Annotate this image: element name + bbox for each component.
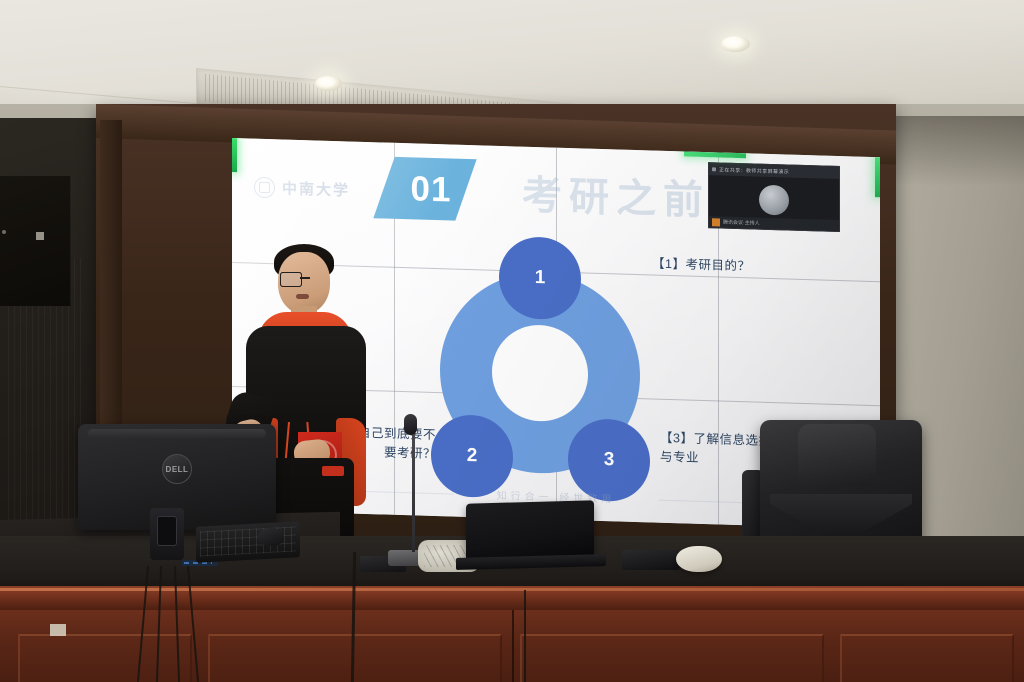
downlight-icon	[721, 36, 750, 52]
video-call-footer-label: 腾讯会议·主持人	[723, 219, 760, 227]
mouse[interactable]	[258, 528, 284, 546]
ring-diagram: 1 2 3	[410, 239, 670, 507]
docking-station[interactable]	[622, 550, 680, 570]
keyboard[interactable]	[196, 521, 300, 562]
dell-logo-icon: DELL	[162, 454, 192, 484]
screen-edge-glow	[232, 138, 237, 172]
video-call-footer: 腾讯会议·主持人	[709, 216, 839, 231]
glasses-icon	[280, 272, 330, 285]
video-call-badge-icon	[712, 218, 720, 226]
microphone-head-icon	[404, 414, 417, 435]
video-call-title: 正在共享：教师共享屏幕演示	[719, 166, 789, 175]
csu-emblem-icon	[254, 177, 275, 199]
video-call-menu-icon[interactable]	[712, 167, 716, 171]
trouser-tag	[322, 466, 344, 476]
screen-edge-glow	[875, 157, 880, 197]
presenter-mouth	[296, 294, 309, 299]
speaker-led-icon	[36, 232, 44, 240]
wall-shadow	[884, 116, 1024, 186]
slide-caption-1: 【1】考研目的？	[652, 254, 750, 276]
video-call-titlebar: 正在共享：教师共享屏幕演示	[709, 163, 839, 179]
speaker-indicator-icon	[2, 230, 6, 234]
lecture-hall-photo: 中南大学 01 考研之前 1 2 3 【1】考研目的？ 问自己到底要不要考研？ …	[0, 0, 1024, 682]
podium-panel	[520, 634, 824, 682]
user-avatar-icon	[759, 185, 789, 216]
desk-edge-highlight	[0, 588, 1024, 591]
hanging-cable	[524, 590, 526, 682]
laptop[interactable]	[466, 500, 594, 559]
slide-title: 考研之前	[522, 163, 710, 227]
chapter-number: 01	[396, 165, 466, 215]
podium-panel	[208, 634, 502, 682]
microphone-stem	[412, 424, 415, 552]
asset-label	[50, 624, 66, 636]
chair-headrest	[798, 424, 876, 486]
downlight-icon	[315, 76, 342, 91]
monitor-stand	[150, 508, 184, 560]
wireless-mouse[interactable]	[676, 546, 722, 572]
podium-panel	[18, 634, 192, 682]
university-logo-label: 中南大学	[282, 177, 350, 200]
video-call-window[interactable]: 正在共享：教师共享屏幕演示 腾讯会议·主持人	[708, 162, 840, 232]
university-logo: 中南大学	[254, 177, 350, 201]
podium-seam	[512, 610, 514, 682]
podium-panel	[840, 634, 1014, 682]
wall-speaker	[0, 176, 71, 306]
